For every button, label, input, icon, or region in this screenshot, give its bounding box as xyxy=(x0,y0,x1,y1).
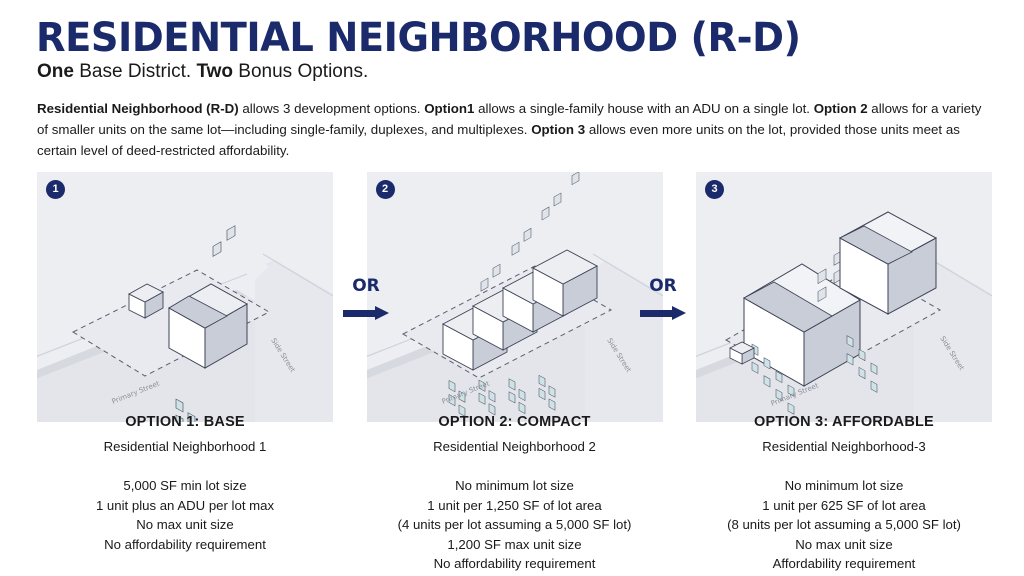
captions-row: OPTION 1: BASE Residential Neighborhood … xyxy=(37,414,992,574)
infographic-page: RESIDENTIAL NEIGHBORHOOD (R-D) One Base … xyxy=(0,0,1024,576)
subtitle-text-one: Base District. xyxy=(74,61,196,82)
subtitle-strong-one: One xyxy=(37,61,74,82)
option-2-rule: No minimum lot size xyxy=(367,476,663,496)
option-3-rule: Affordability requirement xyxy=(696,554,992,574)
option-1-rule: No max unit size xyxy=(37,515,333,535)
arrow-right-icon-2 xyxy=(640,306,686,320)
intro-bold-district: Residential Neighborhood (R-D) xyxy=(37,101,239,116)
option-1-caption-title: OPTION 1: BASE xyxy=(37,414,333,430)
intro-text-2: allows a single-family house with an ADU… xyxy=(474,101,813,116)
intro-bold-option3: Option 3 xyxy=(531,122,585,137)
or-label-1: OR xyxy=(333,276,399,296)
option-3-rule: 1 unit per 625 SF of lot area xyxy=(696,496,992,516)
option-2-caption-subtitle: Residential Neighborhood 2 xyxy=(367,439,663,454)
option-1-rule: 1 unit plus an ADU per lot max xyxy=(37,496,333,516)
option-1-rule: No affordability requirement xyxy=(37,535,333,555)
option-2-badge: 2 xyxy=(376,180,395,199)
option-3-rule: (8 units per lot assuming a 5,000 SF lot… xyxy=(696,515,992,535)
option-3-caption-subtitle: Residential Neighborhood-3 xyxy=(696,439,992,454)
option-1-rules: 5,000 SF min lot size 1 unit plus an ADU… xyxy=(37,476,333,554)
intro-bold-option2: Option 2 xyxy=(814,101,868,116)
page-subtitle: One Base District. Two Bonus Options. xyxy=(37,60,368,84)
option-3-rules: No minimum lot size 1 unit per 625 SF of… xyxy=(696,476,992,574)
subtitle-text-two: Bonus Options. xyxy=(233,61,368,82)
intro-paragraph: Residential Neighborhood (R-D) allows 3 … xyxy=(37,98,992,161)
option-1-rule: 5,000 SF min lot size xyxy=(37,476,333,496)
option-3-caption: OPTION 3: AFFORDABLE Residential Neighbo… xyxy=(696,414,992,574)
option-1-caption-subtitle: Residential Neighborhood 1 xyxy=(37,439,333,454)
option-1-badge: 1 xyxy=(46,180,65,199)
option-3-illustration: Primary Street Side Street xyxy=(696,172,992,422)
or-label-2: OR xyxy=(630,276,696,296)
or-connector-1: OR xyxy=(333,172,399,422)
or-connector-2: OR xyxy=(630,172,696,422)
option-2-rule: No affordability requirement xyxy=(367,554,663,574)
option-2-caption: OPTION 2: COMPACT Residential Neighborho… xyxy=(367,414,663,574)
option-1-illustration: Primary Street Primary Street Side Stree… xyxy=(37,172,333,422)
option-3-caption-title: OPTION 3: AFFORDABLE xyxy=(696,414,992,430)
option-1-caption: OPTION 1: BASE Residential Neighborhood … xyxy=(37,414,333,574)
option-3-rule: No minimum lot size xyxy=(696,476,992,496)
intro-text-1: allows 3 development options. xyxy=(239,101,425,116)
option-2-caption-title: OPTION 2: COMPACT xyxy=(367,414,663,430)
option-2-panel: 2 xyxy=(367,172,663,422)
option-2-rules: No minimum lot size 1 unit per 1,250 SF … xyxy=(367,476,663,574)
option-3-badge: 3 xyxy=(705,180,724,199)
option-1-panel: 1 xyxy=(37,172,333,422)
arrow-right-icon-1 xyxy=(343,306,389,320)
page-title: RESIDENTIAL NEIGHBORHOOD (R-D) xyxy=(36,16,801,60)
intro-bold-option1: Option1 xyxy=(424,101,474,116)
option-3-panel: 3 xyxy=(696,172,992,422)
option-3-rule: No max unit size xyxy=(696,535,992,555)
subtitle-strong-two: Two xyxy=(196,61,233,82)
option-2-rule: 1,200 SF max unit size xyxy=(367,535,663,555)
options-panel-row: 1 xyxy=(37,172,992,422)
option-2-illustration: Primary Street Side Street xyxy=(367,172,663,422)
option-2-rule: 1 unit per 1,250 SF of lot area xyxy=(367,496,663,516)
option-2-rule: (4 units per lot assuming a 5,000 SF lot… xyxy=(367,515,663,535)
